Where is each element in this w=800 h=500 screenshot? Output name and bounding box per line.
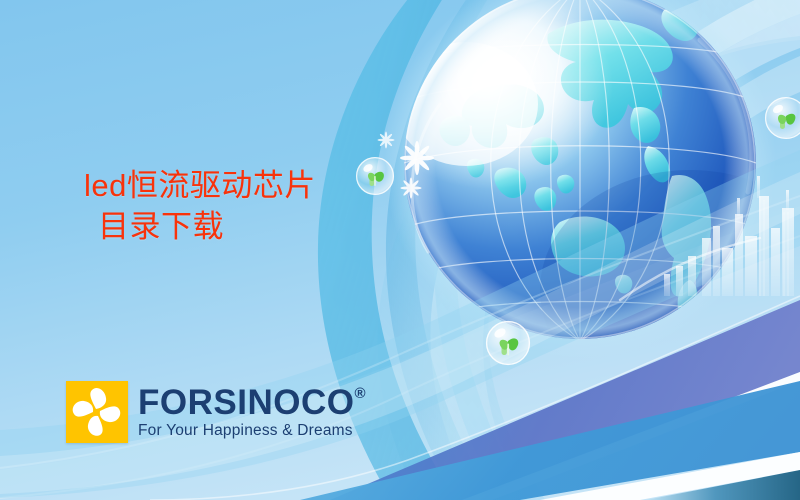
four-petal-flower-icon xyxy=(66,381,128,443)
brand-logo: FORSINOCO ® For Your Happiness & Dreams xyxy=(66,381,366,443)
brand-name-row: FORSINOCO ® xyxy=(138,385,366,420)
registered-trademark-icon: ® xyxy=(354,386,366,401)
brand-tagline: For Your Happiness & Dreams xyxy=(138,423,366,439)
headline-text: led恒流驱动芯片 目录下载 xyxy=(84,166,424,248)
headline-line-2: 目录下载 xyxy=(84,207,424,248)
poster-canvas: led恒流驱动芯片 目录下载 FORSINOCO ® For Your Happ… xyxy=(0,0,800,500)
brand-name: FORSINOCO xyxy=(138,385,354,420)
headline-line-1: led恒流驱动芯片 xyxy=(84,166,424,207)
brand-wordmark: FORSINOCO ® For Your Happiness & Dreams xyxy=(138,385,366,439)
